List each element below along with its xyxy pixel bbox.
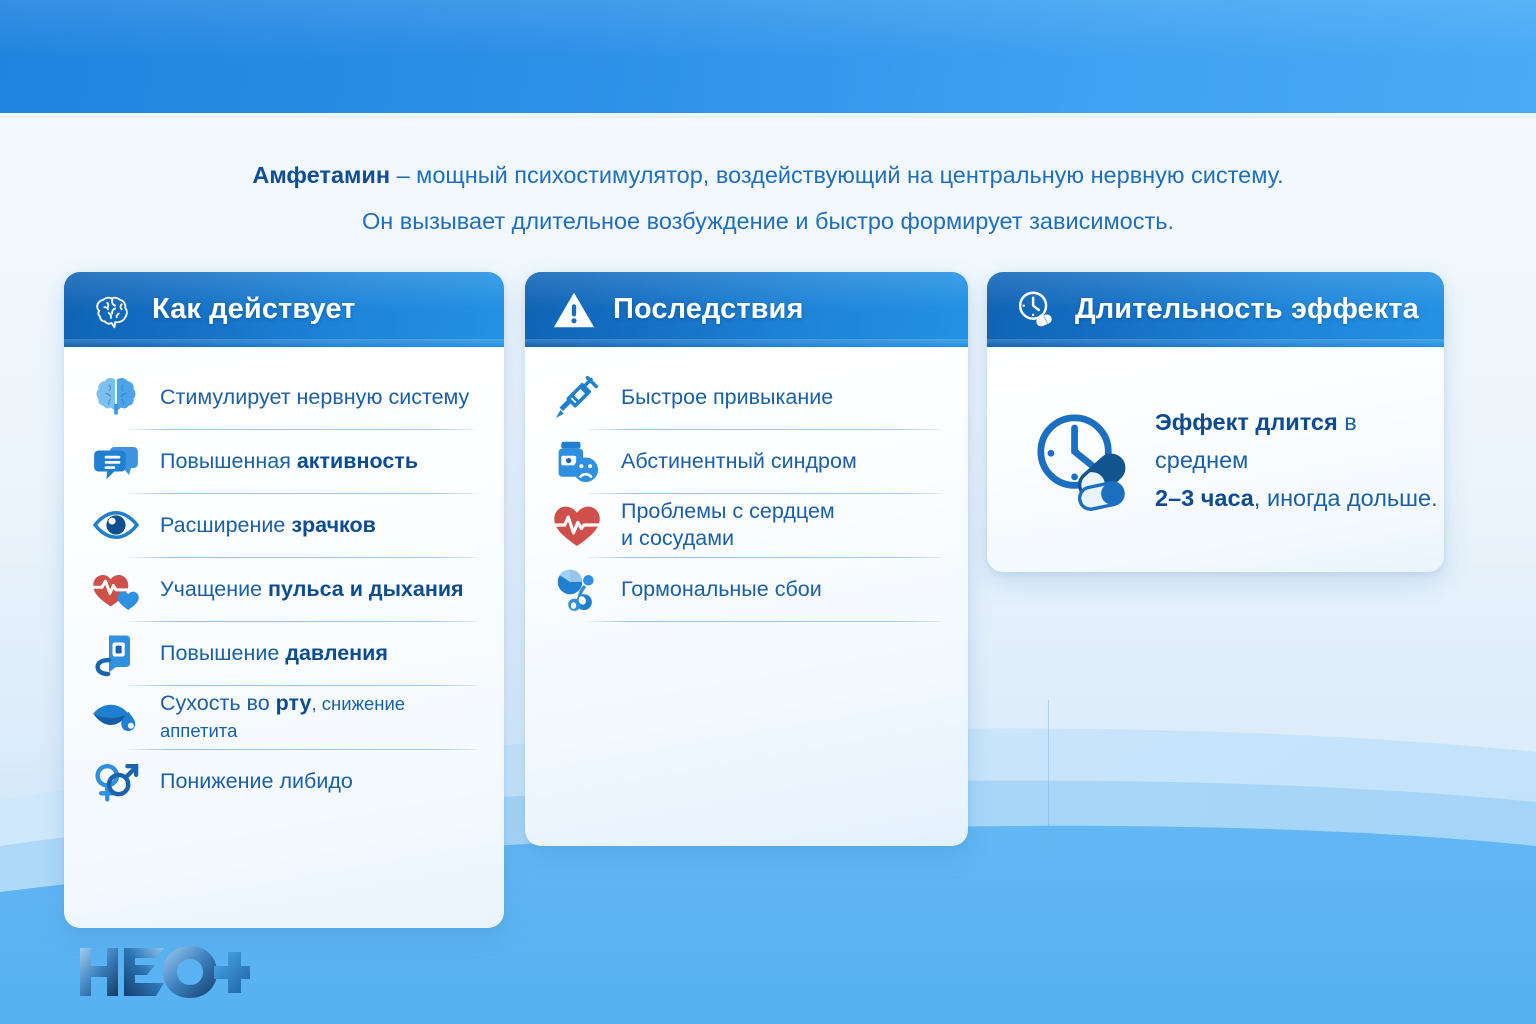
speech-bubbles-icon (86, 433, 146, 489)
intro-keyword: Амфетамин (252, 162, 390, 188)
card-how-header: Как действует (64, 272, 504, 347)
card-consequences: Последствия Быстрое привыкание (525, 272, 968, 846)
card-how-body: Стимулирует нервную систему Повышенная а… (64, 347, 504, 928)
title-band-sheen (0, 0, 1536, 59)
pill-bottle-sad-icon (547, 433, 607, 489)
clock-pills-icon (1013, 287, 1059, 333)
list-item[interactable]: Стимулирует нервную систему (82, 365, 482, 429)
list-item[interactable]: Проблемы с сердцем и сосудами (543, 493, 946, 557)
card-duration: Длительность эффекта (987, 272, 1444, 572)
neo-plus-logo-icon (78, 944, 250, 1000)
brain-outline-icon (90, 287, 136, 333)
clock-capsules-icon (1029, 406, 1137, 514)
brand-logo[interactable] (78, 944, 250, 1000)
list-item-label: Абстинентный синдром (621, 448, 857, 475)
hormones-icon (547, 561, 607, 617)
list-item-label: Понижение либидо (160, 768, 353, 795)
list-item[interactable]: Повышение давления (82, 621, 482, 685)
duration-text-line-2: 2–3 часа, иногда дольше. (1155, 479, 1444, 517)
intro-paragraph: Амфетамин – мощный психостимулятор, возд… (0, 152, 1536, 244)
infographic-canvas: Лечение зависимости от амфетамина Амфета… (0, 0, 1536, 1024)
intro-line-2: Он вызывает длительное возбуждение и быс… (0, 198, 1536, 244)
card-consequences-body: Быстрое привыкание Абстинентный синдром (525, 347, 968, 846)
card-consequences-header: Последствия (525, 272, 968, 347)
list-item[interactable]: Быстрое привыкание (543, 365, 946, 429)
blood-pressure-icon (86, 625, 146, 681)
list-item[interactable]: Абстинентный синдром (543, 429, 946, 493)
list-item[interactable]: Учащение пульса и дыхания (82, 557, 482, 621)
list-item-label: Повышенная активность (160, 448, 418, 475)
hearts-pulse-icon (86, 561, 146, 617)
duration-content: Эффект длится в среднем 2–3 часа, иногда… (987, 403, 1444, 517)
card-duration-header: Длительность эффекта (987, 272, 1444, 347)
duration-text: Эффект длится в среднем 2–3 часа, иногда… (1155, 403, 1444, 517)
list-item-label: Расширение зрачков (160, 512, 376, 539)
list-item-label: Гормональные сбои (621, 576, 822, 603)
card-how-it-works: Как действует Стимулирует нервную систем… (64, 272, 504, 928)
list-item[interactable]: Понижение либидо (82, 749, 482, 813)
gender-symbols-icon (86, 753, 146, 809)
list-item[interactable]: Расширение зрачков (82, 493, 482, 557)
list-item-label: Учащение пульса и дыхания (160, 576, 464, 603)
lips-drop-icon (86, 689, 146, 745)
list-item[interactable]: Повышенная активность (82, 429, 482, 493)
duration-text-line-1: Эффект длится в среднем (1155, 403, 1444, 479)
background-guide-line-a (1048, 700, 1049, 860)
card-how-title: Как действует (152, 293, 356, 326)
card-duration-title: Длительность эффекта (1075, 293, 1419, 326)
intro-line-1: Амфетамин – мощный психостимулятор, возд… (0, 152, 1536, 198)
eye-icon (86, 497, 146, 553)
card-consequences-title: Последствия (613, 293, 804, 326)
list-item[interactable]: Гормональные сбои (543, 557, 946, 621)
list-item[interactable]: Сухость во рту, снижение аппетита (82, 685, 482, 749)
syringe-icon (547, 369, 607, 425)
list-item-label: Проблемы с сердцем и сосудами (621, 498, 835, 552)
heart-pulse-icon (547, 497, 607, 553)
intro-line-1-rest: – мощный психостимулятор, воздействующий… (390, 162, 1284, 188)
brain-icon (86, 369, 146, 425)
list-item-label: Сухость во рту, снижение аппетита (160, 690, 478, 744)
card-duration-body: Эффект длится в среднем 2–3 часа, иногда… (987, 347, 1444, 572)
list-item-label: Стимулирует нервную систему (160, 384, 469, 411)
list-item-label: Быстрое привыкание (621, 384, 833, 411)
title-band (0, 0, 1536, 113)
list-item-label: Повышение давления (160, 640, 388, 667)
warning-triangle-icon (551, 287, 597, 333)
